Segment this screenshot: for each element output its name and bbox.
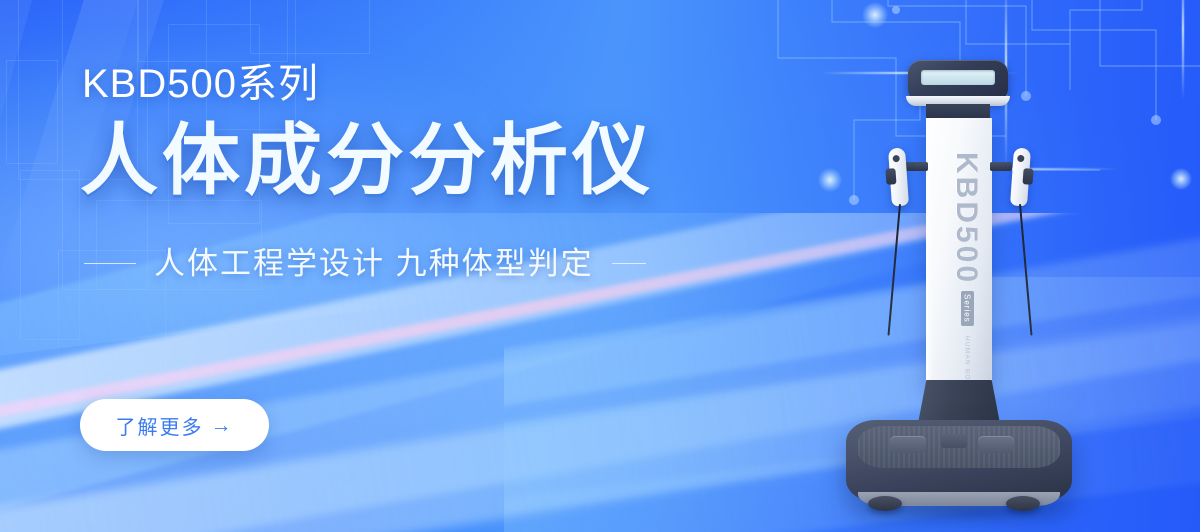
device-column: KBD500 Series HUMAN BODY COMPOSITION ANA…	[926, 118, 992, 390]
device-series-badge: Series	[961, 291, 974, 326]
device-arm-left	[906, 162, 928, 171]
glow-dot	[862, 2, 888, 28]
hero-subtitle-row: 人体工程学设计 九种体型判定	[84, 248, 700, 279]
hero-copy: KBD500系列 人体成分分析仪 人体工程学设计 九种体型判定	[80, 64, 700, 279]
device-hand-electrode-right	[1010, 147, 1031, 206]
device-lcd-screen	[921, 70, 995, 85]
page-title: 人体成分分析仪	[80, 120, 700, 202]
device-leveling-foot-right	[1006, 496, 1040, 511]
device-foot-platform	[846, 420, 1072, 502]
device-leveling-foot-left	[868, 496, 902, 511]
device-foot-pad-left	[890, 436, 926, 453]
device-brand-label: KBD500	[949, 152, 983, 285]
learn-more-button[interactable]: 了解更多 →	[80, 399, 269, 451]
body-composition-analyzer-image: KBD500 Series HUMAN BODY COMPOSITION ANA…	[838, 44, 1138, 514]
device-foot-pad-right	[978, 436, 1014, 453]
device-arm-right	[990, 162, 1012, 171]
subtitle-dash-left-icon	[84, 263, 136, 265]
device-cable-left	[887, 204, 900, 336]
device-column-branding: KBD500 Series HUMAN BODY COMPOSITION ANA…	[926, 118, 992, 390]
glow-dot	[1170, 168, 1192, 190]
device-cable-right	[1019, 204, 1032, 336]
device-center-plate	[941, 434, 967, 448]
arrow-right-icon: →	[211, 415, 234, 436]
device-hand-electrode-left	[888, 147, 909, 206]
product-series-label: KBD500系列	[82, 64, 700, 104]
learn-more-label: 了解更多	[116, 411, 204, 440]
subtitle-dash-right-icon	[612, 263, 646, 265]
product-hero-banner: KBD500系列 人体成分分析仪 人体工程学设计 九种体型判定 了解更多 → K…	[0, 0, 1200, 532]
hero-subtitle: 人体工程学设计 九种体型判定	[154, 248, 594, 279]
